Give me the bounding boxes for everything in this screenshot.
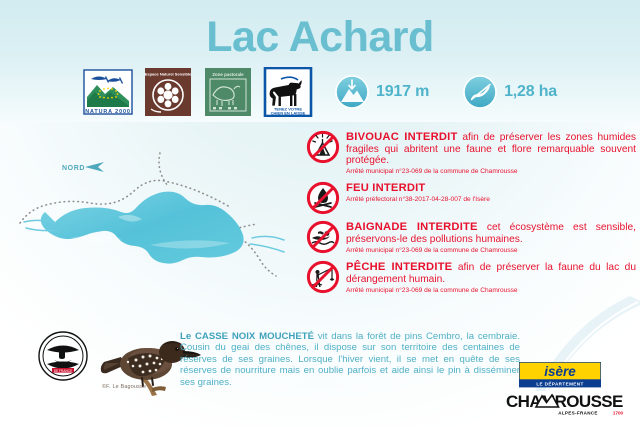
no-bivouac-icon [306,130,340,164]
badge-natura-2000: NATURA 2000 [83,67,133,117]
badge-espace-naturel-sensible: Espace Naturel Sensible [143,67,193,117]
rule-reference: Arrêté préfectoral n°38-2017-04-28-007 d… [346,196,636,204]
no-fishing-icon [306,260,340,294]
badge-zone-pastorale-label: Zone pastorale [212,72,244,77]
compass-arrow [85,162,104,172]
no-fire-icon [306,181,340,215]
metric-area: 1,28 ha [463,75,557,109]
parc-logo-label: DE FRANCE [54,369,72,373]
chamrousse-logo-line1: CHAMROUSSE [506,392,623,411]
poster-root: Lac Achard NATURA 20 [0,0,640,427]
area-value: 1,28 ha [504,83,557,101]
lake-shape [41,192,244,264]
badge-ens-label: Espace Naturel Sensible [145,72,192,77]
badge-row: NATURA 2000 Espace Naturel Sensible [0,66,640,118]
rules-list: BIVOUAC INTERDIT afin de préserver les z… [306,131,636,301]
species-description: Le CASSE NOIX MOUCHETÉ vit dans la forêt… [180,331,520,388]
rule-title: PÊCHE INTERDITE [346,261,452,273]
chamrousse-logo: CHAMROUSSE ALPES-FRANCE 1700 [506,391,630,417]
isere-logo-line2: LE DÉPARTEMENT [536,380,583,387]
altitude-value: 1917 m [376,83,429,101]
compass-label: NORD [62,165,85,172]
chamrousse-logo-line2: ALPES-FRANCE [558,411,598,416]
parcs-nationaux-logo: DE FRANCE [36,330,90,382]
rule-item: PÊCHE INTERDITE afin de préserver la fau… [306,261,636,295]
rule-title: BIVOUAC INTERDIT [346,131,458,143]
rule-item: FEU INTERDIT Arrêté préfectoral n°38-201… [306,182,636,215]
stream-east-1 [252,236,284,240]
badge-chien-laisse-line2: CHIEN EN LAISSE [271,110,306,115]
rule-item: BIVOUAC INTERDIT afin de préserver les z… [306,131,636,176]
photo-credit: ©F. Le Bagousse [102,384,146,390]
rule-reference: Arrêté municipal n°23-069 de la commune … [346,287,636,295]
badge-zone-pastorale: Zone pastorale [203,67,253,117]
isere-logo-line1: isère [544,364,576,379]
page-title: Lac Achard [0,14,640,60]
isere-logo: isère LE DÉPARTEMENT [519,362,601,388]
rule-item: BAIGNADE INTERDITE cet écosystème est se… [306,221,636,255]
badge-chien-en-laisse: TENEZ VOTRE CHIEN EN LAISSE [263,67,313,117]
badge-natura-2000-label: NATURA 2000 [85,109,131,115]
rule-title: FEU INTERDIT [346,182,425,194]
chamrousse-logo-line3: 1700 [613,411,624,416]
stream-east-2 [250,244,284,252]
area-icon [463,75,497,109]
mountain-icon [335,75,369,109]
species-title: Le CASSE NOIX MOUCHETÉ [180,331,314,342]
metric-altitude: 1917 m [335,75,429,109]
rule-title: BAIGNADE INTERDITE [346,221,478,233]
lake-map [0,120,305,330]
no-swimming-icon [306,220,340,254]
rule-reference: Arrêté municipal n°23-069 de la commune … [346,247,636,255]
rule-reference: Arrêté municipal n°23-069 de la commune … [346,168,636,176]
